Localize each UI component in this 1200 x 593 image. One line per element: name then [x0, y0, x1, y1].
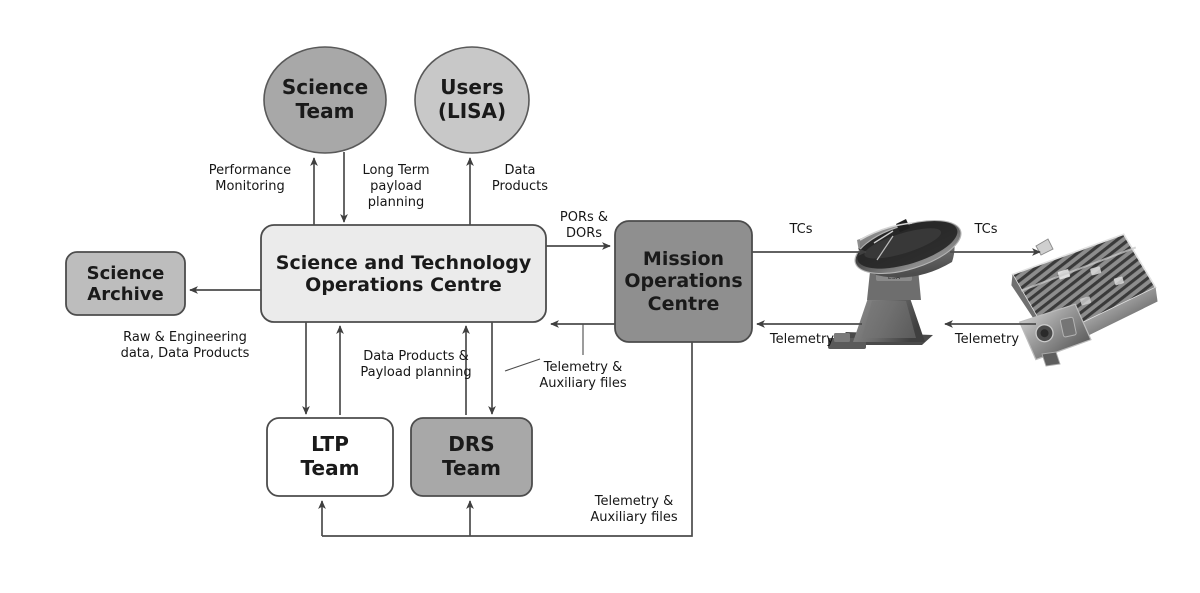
node-science-archive[interactable]	[66, 252, 185, 315]
node-drs-team[interactable]	[411, 418, 532, 496]
diagram-canvas: ESA	[0, 0, 1200, 593]
node-moc[interactable]	[615, 221, 752, 342]
node-ltp-team[interactable]	[267, 418, 393, 496]
node-users-lisa[interactable]	[415, 47, 529, 153]
leader-telemetry-aux-upper-diagonal	[505, 359, 540, 371]
node-stoc[interactable]	[261, 225, 546, 322]
node-science-team[interactable]	[264, 47, 386, 153]
node-ground-station[interactable]	[826, 216, 962, 351]
node-spacecraft[interactable]	[1004, 232, 1156, 372]
